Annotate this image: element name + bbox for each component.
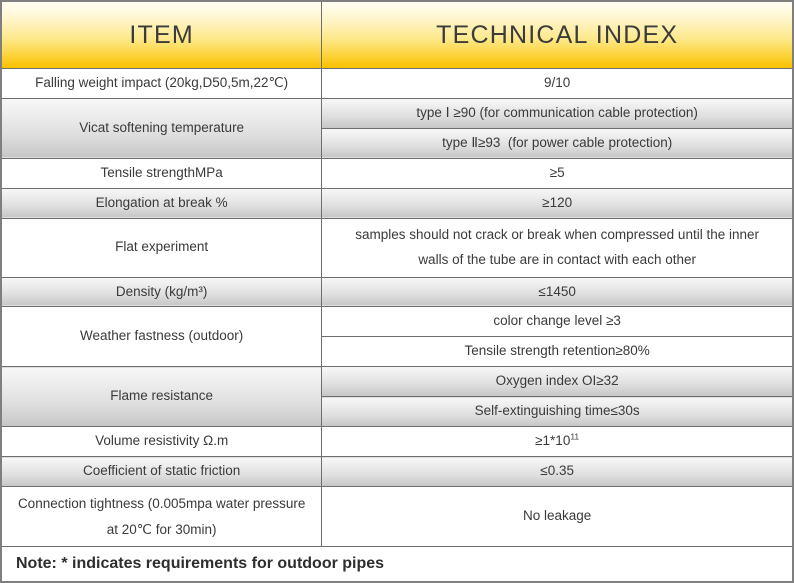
row-item-label: Tensile strengthMPa bbox=[2, 159, 321, 188]
row-item-label: Volume resistivity Ω.m bbox=[2, 427, 321, 456]
row-item-cell: Flame resistance bbox=[1, 367, 322, 427]
row-value-cell: ≤0.35 bbox=[322, 457, 793, 487]
sub-row: Self-extinguishing time≤30s bbox=[322, 397, 792, 426]
row-value-cell: ≥5 bbox=[322, 158, 793, 188]
table-row: Connection tightness (0.005mpa water pre… bbox=[1, 487, 793, 547]
row-value-group: ≥1*1011 bbox=[322, 427, 792, 456]
table-header-row: ITEM TECHNICAL INDEX bbox=[1, 1, 793, 69]
header-technical-index-label: TECHNICAL INDEX bbox=[322, 23, 792, 48]
row-value-cell: samples should not crack or break when c… bbox=[322, 218, 793, 277]
technical-index-table: ITEM TECHNICAL INDEX Falling weight impa… bbox=[0, 0, 794, 583]
row-value-text: Oxygen index OI≥32 bbox=[322, 367, 792, 396]
row-item-cell: Elongation at break % bbox=[1, 188, 322, 218]
row-value-cell: 9/10 bbox=[322, 69, 793, 99]
row-item-label: Density (kg/m³) bbox=[2, 278, 321, 307]
sub-value-table: color change level ≥3 Tensile strength r… bbox=[322, 307, 792, 366]
row-value-text: ≥120 bbox=[322, 189, 792, 218]
row-value-cell: ≥1*1011 bbox=[322, 427, 793, 457]
sub-row: color change level ≥3 bbox=[322, 307, 792, 336]
row-item-label: Weather fastness (outdoor) bbox=[2, 322, 321, 351]
row-value-text: type Ⅰ ≥90 (for communication cable prot… bbox=[322, 99, 792, 128]
row-item-label: Flat experiment bbox=[2, 233, 321, 262]
sub-row: Oxygen index OI≥32 bbox=[322, 367, 792, 396]
row-value-text: samples should not crack or break when c… bbox=[322, 219, 792, 277]
row-item-cell: Flat experiment bbox=[1, 218, 322, 277]
note-row: Note: * indicates requirements for outdo… bbox=[1, 547, 793, 583]
row-value-text: ≥5 bbox=[322, 159, 792, 188]
sub-row: Tensile strength retention≥80% bbox=[322, 337, 792, 366]
table-row: Density (kg/m³) ≤1450 bbox=[1, 277, 793, 307]
table-row: Falling weight impact (20kg,D50,5m,22℃) … bbox=[1, 69, 793, 99]
row-value-superscript: 11 bbox=[570, 432, 579, 442]
sub-value-cell: Oxygen index OI≥32 bbox=[322, 367, 792, 396]
row-item-label: Elongation at break % bbox=[2, 189, 321, 218]
sub-value-cell: Tensile strength retention≥80% bbox=[322, 337, 792, 366]
row-value-text: type Ⅱ≥93 (for power cable protection) bbox=[322, 129, 792, 158]
sub-value-cell: color change level ≥3 bbox=[322, 307, 792, 336]
table-row: Weather fastness (outdoor) color change … bbox=[1, 307, 793, 367]
row-item-cell: Weather fastness (outdoor) bbox=[1, 307, 322, 367]
row-item-cell: Falling weight impact (20kg,D50,5m,22℃) bbox=[1, 69, 322, 99]
row-value-cell: ≥120 bbox=[322, 188, 793, 218]
note-text: Note: * indicates requirements for outdo… bbox=[2, 555, 792, 573]
row-item-cell: Vicat softening temperature bbox=[1, 98, 322, 158]
row-value-cell: type Ⅰ ≥90 (for communication cable prot… bbox=[322, 98, 793, 158]
row-value-text: color change level ≥3 bbox=[322, 307, 792, 336]
row-value-cell: color change level ≥3 Tensile strength r… bbox=[322, 307, 793, 367]
sub-value-cell: Self-extinguishing time≤30s bbox=[322, 397, 792, 426]
row-item-cell: Connection tightness (0.005mpa water pre… bbox=[1, 487, 322, 547]
row-item-label: Vicat softening temperature bbox=[2, 114, 321, 143]
row-value-cell: ≤1450 bbox=[322, 277, 793, 307]
row-value-text: ≤0.35 bbox=[322, 457, 792, 486]
table-row: Tensile strengthMPa ≥5 bbox=[1, 158, 793, 188]
row-item-label: Connection tightness (0.005mpa water pre… bbox=[2, 487, 321, 546]
row-item-cell: Coefficient of static friction bbox=[1, 457, 322, 487]
table-row: Flat experiment samples should not crack… bbox=[1, 218, 793, 277]
table-row: Elongation at break % ≥120 bbox=[1, 188, 793, 218]
table-row: Flame resistance Oxygen index OI≥32 Self… bbox=[1, 367, 793, 427]
row-item-label: Flame resistance bbox=[2, 382, 321, 411]
row-item-cell: Tensile strengthMPa bbox=[1, 158, 322, 188]
row-value-cell: Oxygen index OI≥32 Self-extinguishing ti… bbox=[322, 367, 793, 427]
row-value-text: ≥1*10 bbox=[535, 433, 570, 448]
sub-row: type Ⅰ ≥90 (for communication cable prot… bbox=[322, 99, 792, 128]
table-row: Vicat softening temperature type Ⅰ ≥90 (… bbox=[1, 98, 793, 158]
row-value-text: 9/10 bbox=[322, 69, 792, 98]
row-value-text: Self-extinguishing time≤30s bbox=[322, 397, 792, 426]
sub-value-cell: type Ⅰ ≥90 (for communication cable prot… bbox=[322, 99, 792, 128]
row-item-cell: Volume resistivity Ω.m bbox=[1, 427, 322, 457]
note-cell: Note: * indicates requirements for outdo… bbox=[1, 547, 793, 583]
sub-value-table: type Ⅰ ≥90 (for communication cable prot… bbox=[322, 99, 792, 158]
row-value-text: No leakage bbox=[322, 502, 792, 531]
row-value-text: ≤1450 bbox=[322, 278, 792, 307]
sub-value-cell: type Ⅱ≥93 (for power cable protection) bbox=[322, 128, 792, 157]
header-cell-technical-index: TECHNICAL INDEX bbox=[322, 1, 793, 69]
row-item-label: Coefficient of static friction bbox=[2, 457, 321, 486]
header-item-label: ITEM bbox=[2, 23, 321, 48]
row-item-label: Falling weight impact (20kg,D50,5m,22℃) bbox=[2, 69, 321, 98]
table-row: Coefficient of static friction ≤0.35 bbox=[1, 457, 793, 487]
row-item-cell: Density (kg/m³) bbox=[1, 277, 322, 307]
header-cell-item: ITEM bbox=[1, 1, 322, 69]
sub-value-table: Oxygen index OI≥32 Self-extinguishing ti… bbox=[322, 367, 792, 426]
sub-row: type Ⅱ≥93 (for power cable protection) bbox=[322, 128, 792, 157]
row-value-cell: No leakage bbox=[322, 487, 793, 547]
table-row: Volume resistivity Ω.m ≥1*1011 bbox=[1, 427, 793, 457]
row-value-text: Tensile strength retention≥80% bbox=[322, 337, 792, 366]
